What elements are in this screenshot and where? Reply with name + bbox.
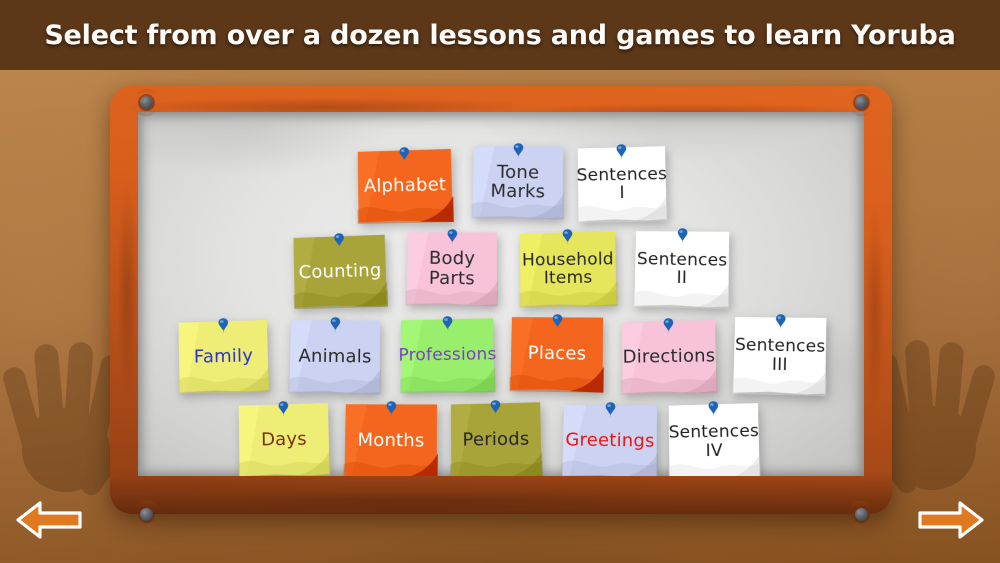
next-page-arrow-button[interactable] <box>914 496 986 544</box>
note-label: Family <box>188 346 260 367</box>
frame-screw-top-right <box>855 96 868 109</box>
push-pin-icon <box>385 400 398 417</box>
note-label: Professions <box>392 346 502 366</box>
note-label: BodyParts <box>423 249 482 288</box>
lesson-note-directions[interactable]: Directions <box>620 319 717 394</box>
note-label: Animals <box>292 346 377 366</box>
push-pin-icon <box>774 313 787 330</box>
note-label: Counting <box>292 261 387 283</box>
lesson-note-months[interactable]: Months <box>344 402 439 476</box>
note-label: SentencesIV <box>662 422 765 461</box>
note-label: SentencesI <box>570 165 673 204</box>
note-label: Directions <box>617 346 722 367</box>
lesson-note-days[interactable]: Days <box>237 402 330 476</box>
note-label: SentencesII <box>630 250 733 289</box>
frame-screw-bottom-left <box>140 508 153 521</box>
lesson-note-tone-marks[interactable]: ToneMarks <box>471 144 564 219</box>
push-pin-icon <box>332 232 345 249</box>
lesson-note-body-parts[interactable]: BodyParts <box>406 231 499 307</box>
note-label: SentencesIII <box>728 336 831 375</box>
note-label: Greetings <box>559 430 660 451</box>
arrow-right-icon <box>914 496 986 544</box>
lesson-note-greetings[interactable]: Greetings <box>561 403 658 476</box>
note-label: Places <box>522 344 593 365</box>
note-label: Periods <box>456 430 535 451</box>
header-band: Select from over a dozen lessons and gam… <box>0 0 1000 70</box>
page-title: Select from over a dozen lessons and gam… <box>44 20 955 51</box>
lesson-note-sentences-iii[interactable]: SentencesIII <box>732 315 828 396</box>
note-label: Months <box>351 431 430 451</box>
push-pin-icon <box>398 146 411 163</box>
note-label: Days <box>255 430 313 451</box>
note-label: HouseholdItems <box>516 250 620 288</box>
lesson-note-animals[interactable]: Animals <box>289 318 382 394</box>
arrow-left-icon <box>14 496 86 544</box>
note-label: Alphabet <box>358 175 453 196</box>
frame-screw-bottom-right <box>855 508 868 521</box>
lesson-note-counting[interactable]: Counting <box>292 234 388 309</box>
push-pin-icon <box>329 316 342 333</box>
previous-page-arrow-button[interactable] <box>14 496 86 544</box>
frame-screw-top-left <box>140 96 153 109</box>
push-pin-icon <box>662 317 675 334</box>
lesson-note-sentences-i[interactable]: SentencesI <box>576 145 667 223</box>
lesson-note-professions[interactable]: Professions <box>400 317 496 393</box>
push-pin-icon <box>615 143 628 160</box>
lesson-note-sentences-iv[interactable]: SentencesIV <box>667 402 760 476</box>
push-pin-icon <box>277 400 290 417</box>
app-root: Select from over a dozen lessons and gam… <box>0 0 1000 563</box>
lesson-note-household-items[interactable]: HouseholdItems <box>518 230 617 307</box>
note-label: ToneMarks <box>484 162 551 202</box>
lesson-note-family[interactable]: Family <box>177 319 270 394</box>
push-pin-icon <box>446 228 459 245</box>
push-pin-icon <box>512 142 525 159</box>
lesson-board-surface: AlphabetToneMarksSentencesICountingBodyP… <box>138 112 864 476</box>
push-pin-icon <box>489 399 502 416</box>
push-pin-icon <box>561 228 574 245</box>
push-pin-icon <box>604 401 617 418</box>
push-pin-icon <box>216 317 229 334</box>
lesson-note-places[interactable]: Places <box>509 315 604 392</box>
push-pin-icon <box>707 400 720 417</box>
lesson-board-frame: AlphabetToneMarksSentencesICountingBodyP… <box>110 86 892 514</box>
lesson-note-periods[interactable]: Periods <box>449 401 542 476</box>
push-pin-icon <box>676 227 689 244</box>
lesson-note-alphabet[interactable]: Alphabet <box>356 148 454 224</box>
push-pin-icon <box>441 315 454 332</box>
lesson-note-sentences-ii[interactable]: SentencesII <box>633 229 730 309</box>
push-pin-icon <box>551 313 564 330</box>
